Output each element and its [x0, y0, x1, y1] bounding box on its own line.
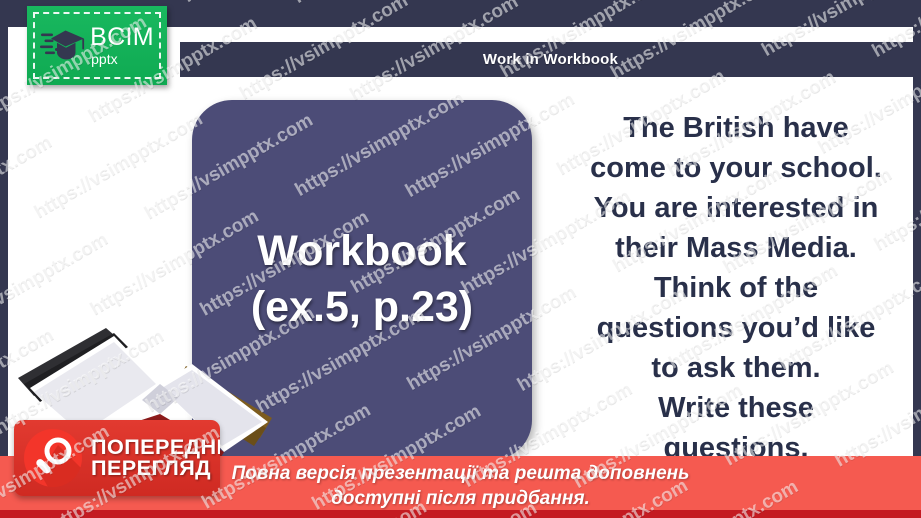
- task-passage: The British have come to your school. Yo…: [552, 108, 920, 468]
- logo-content: BCIM pptx: [27, 6, 167, 85]
- banner-line-2: доступні після придбання.: [331, 487, 590, 512]
- page-title: Work in Workbook: [483, 51, 618, 68]
- bcim-pptx-logo[interactable]: BCIM pptx: [27, 6, 167, 85]
- passage-line: Think of the: [552, 268, 920, 308]
- slide-header-bar: Work in Workbook: [180, 42, 921, 77]
- watermark-text: https://vsimpptx.com: [180, 0, 356, 8]
- passage-line: come to your school.: [552, 148, 920, 188]
- passage-line: The British have: [552, 108, 920, 148]
- passage-line: You are interested in: [552, 188, 920, 228]
- workbook-card-line-1: Workbook: [257, 224, 466, 280]
- passage-line: to ask them.: [552, 348, 920, 388]
- logo-text-group: BCIM pptx: [90, 25, 154, 66]
- slide-canvas: Work in Workbook: [0, 0, 921, 518]
- watermark-text: https://vsimpptx.com: [0, 227, 2, 342]
- passage-line: their Mass Media.: [552, 228, 920, 268]
- workbook-card-line-2: (ex.5, p.23): [251, 280, 473, 336]
- passage-line: questions you’d like: [552, 308, 920, 348]
- magnifying-glass-icon: [24, 429, 82, 487]
- logo-subtitle: pptx: [91, 52, 117, 66]
- logo-title: BCIM: [90, 25, 154, 50]
- banner-line-1: Повна версія презентації та решта доповн…: [232, 462, 690, 487]
- graduation-cap-icon: [40, 23, 86, 69]
- preview-badge-text: ПОПЕРЕДНІЙ ПЕРЕГЛЯД: [91, 437, 220, 480]
- preview-badge-line-1: ПОПЕРЕДНІЙ: [91, 437, 220, 458]
- preview-badge-line-2: ПЕРЕГЛЯД: [91, 458, 220, 479]
- watermark-text: https://vsimpptx.com: [290, 0, 466, 9]
- preview-badge[interactable]: ПОПЕРЕДНІЙ ПЕРЕГЛЯД: [14, 420, 220, 496]
- passage-line: Write these: [552, 388, 920, 428]
